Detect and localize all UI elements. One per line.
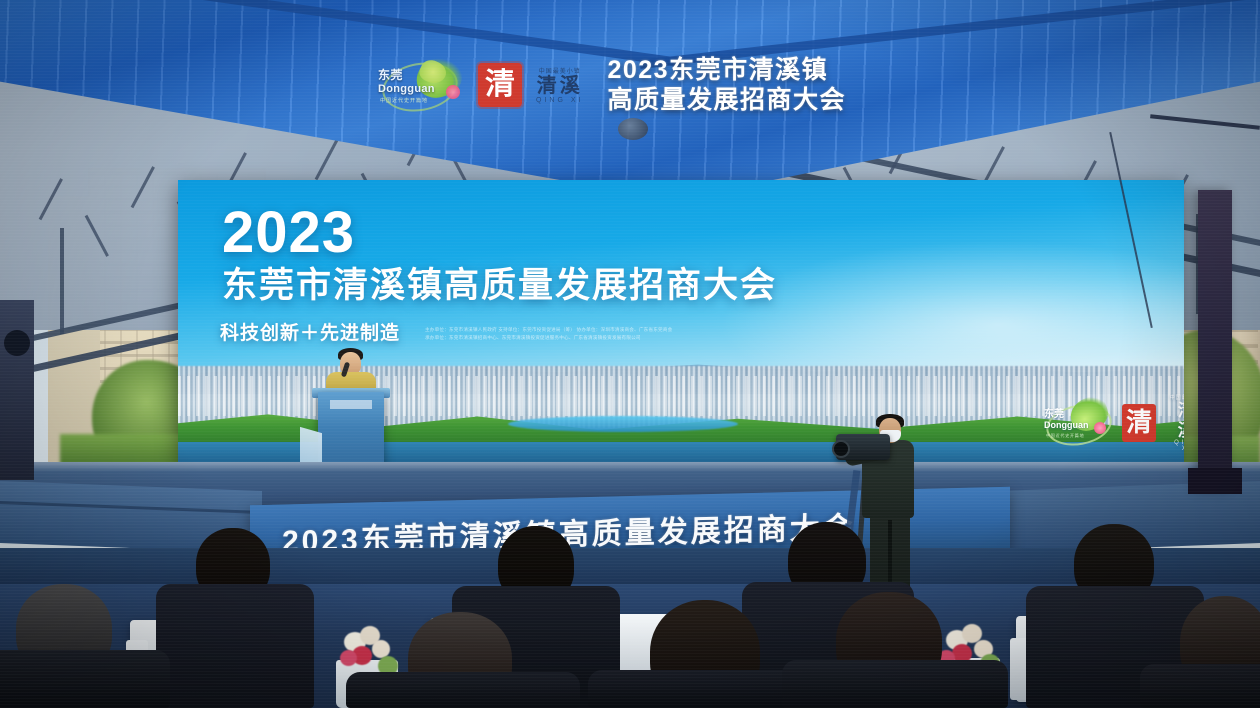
- truss-post: [60, 228, 64, 334]
- qingxi-tiny-line: 中国最美小镇: [536, 66, 583, 75]
- dongguan-logo-text: 东莞 Dongguan: [1044, 410, 1089, 431]
- dongguan-latin: Dongguan: [1044, 420, 1089, 430]
- flower-dot-icon: [446, 85, 460, 99]
- banner-title-line2: 高质量发展招商大会: [607, 85, 846, 116]
- person-torso: [1140, 664, 1260, 708]
- flower-dot-icon: [1094, 422, 1106, 434]
- camera-lens-icon: [832, 440, 850, 458]
- qingxi-pinyin: QING XI: [1168, 440, 1184, 452]
- dongguan-logo-banner: 东莞 Dongguan 中国近代史开篇地: [372, 57, 464, 113]
- seal-character: 清: [1126, 410, 1152, 436]
- person-torso: [782, 660, 1008, 708]
- qingxi-logo-banner: 中国最美小镇 清溪 QING XI: [536, 66, 583, 104]
- led-main-title: 东莞市清溪镇高质量发展招商大会: [222, 268, 777, 303]
- qingxi-seal-icon-led: 清: [1122, 404, 1156, 442]
- podium-nameplate: [330, 400, 372, 409]
- stage-deck-highlight: [0, 462, 1260, 472]
- speaker-tower-base: [1188, 468, 1242, 494]
- speaker-tower-left: [0, 300, 34, 480]
- dongguan-cn: 东莞: [1044, 409, 1064, 420]
- led-year: 2023: [222, 204, 355, 262]
- overhead-banner: 东莞 Dongguan 中国近代史开篇地 清 中国最美小镇 清溪 QING XI…: [372, 44, 932, 126]
- flower: [340, 650, 357, 666]
- qingxi-pinyin: QING XI: [536, 97, 583, 104]
- qingxi-seal-icon: 清: [478, 63, 522, 107]
- conference-scene: 东莞 Dongguan 中国近代史开篇地 清 中国最美小镇 清溪 QING XI…: [0, 0, 1260, 708]
- person-torso: [346, 672, 580, 708]
- qingxi-name: 清溪: [1168, 401, 1184, 440]
- dongguan-latin: Dongguan: [378, 83, 435, 95]
- dongguan-logo-led: 东莞 Dongguan 中国近代史开篇地: [1040, 400, 1110, 446]
- person-torso: [0, 650, 170, 708]
- speaker-tower-right: [1198, 190, 1232, 490]
- seal-character: 清: [485, 70, 515, 100]
- banner-title: 2023东莞市清溪镇 高质量发展招商大会: [607, 55, 846, 116]
- dongguan-cn: 东莞: [378, 68, 403, 82]
- dongguan-logo-text: 东莞 Dongguan: [378, 69, 435, 95]
- dongguan-tagline: 中国近代史开篇地: [1046, 433, 1084, 439]
- banner-title-line1: 2023东莞市清溪镇: [607, 55, 846, 86]
- fine-print-line1: 主办单位：东莞市清溪镇人民政府 支持单位：东莞市投资促进局（筹） 协办单位：深圳…: [425, 326, 710, 334]
- fine-print-line2: 承办单位：东莞市清溪镇招商中心、东莞市清溪镇投资促进服务中心、广东省清溪镇投资发…: [425, 334, 710, 342]
- led-fine-print: 主办单位：东莞市清溪镇人民政府 支持单位：东莞市投资促进局（筹） 协办单位：深圳…: [425, 326, 710, 343]
- qingxi-tiny-line: 中国最美小镇: [1168, 394, 1184, 401]
- qingxi-logo-led: 中国最美小镇 清溪 QING XI: [1168, 394, 1184, 452]
- dongguan-tagline: 中国近代史开篇地: [380, 97, 428, 104]
- led-lake: [508, 416, 738, 432]
- led-logo-group: 东莞 Dongguan 中国近代史开篇地 清 中国最美小镇 清溪 QING XI: [1040, 394, 1184, 452]
- qingxi-name: 清溪: [536, 75, 583, 97]
- person-torso: [156, 584, 314, 708]
- led-subtitle: 科技创新＋先进制造: [220, 318, 400, 345]
- speaker-cone-left: [4, 330, 30, 356]
